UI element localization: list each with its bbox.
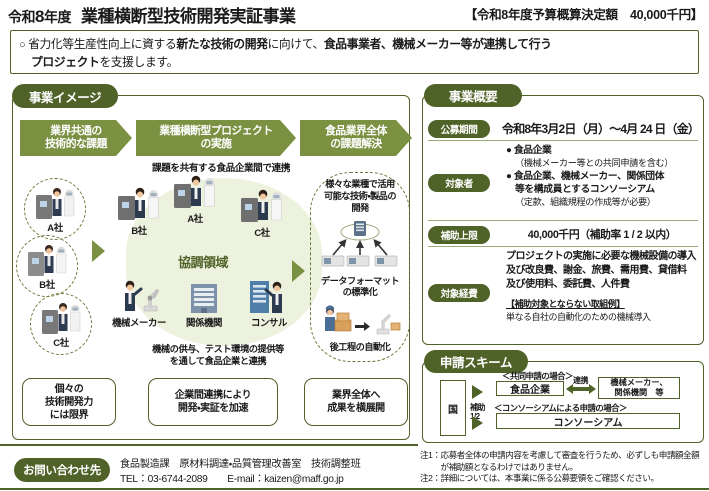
actor-name: B社 (131, 223, 146, 237)
summary-text-2: 新たな技術の開発 (176, 37, 267, 51)
actor-name: 機械メーカー (112, 315, 166, 329)
scheme-food-company-label: 食品企業 (510, 381, 550, 396)
business-image-panel: 事業イメージ 業界共通の 技術的な課題 業種横断型プロジェクト の実施 食品業界… (8, 82, 412, 442)
collab-actor-consultant: コンサル (240, 276, 298, 329)
scheme-partner-label: 機械メーカー、 関係機関 等 (610, 378, 667, 398)
eligible-item-main: 食品企業 (514, 145, 552, 156)
actor-name: A社 (187, 211, 202, 225)
chevron-step-3: 食品業界全体 の課題解決 (300, 120, 412, 156)
summary-box: ○ 省力化等生産性向上に資する新たな技術の開発に向けて、食品事業者、機械メーカー… (10, 30, 699, 74)
eligible-item: ● 食品企業、機械メーカー、関係団体 等を構成員とするコンソーシアム (506, 170, 702, 196)
footnote-2-text: 詳細については、本事業に係る公募要領をご確認ください。 (440, 473, 658, 485)
contact-pill: お問い合わせ先 (14, 458, 110, 482)
fiscal-year-label: 令和8年度 (0, 7, 71, 27)
era-number: 8 (35, 7, 44, 26)
caption-box-3: 業界全体へ 成果を横展開 (304, 378, 408, 426)
outcome-sub-1: データフォーマット の標準化 (321, 276, 399, 299)
collab-actor-a: A社 (168, 174, 222, 225)
eligible-expenses-tag: 対象経費 (428, 284, 490, 302)
factory-worker-icon (117, 186, 161, 222)
flow-arrow-to-outcome-icon (292, 260, 305, 282)
eligible-expenses-body: プロジェクトの実施に必要な機械設備の導入 及び改良費、謝金、旅費、需用費、貸借料… (506, 250, 702, 323)
footnote-1-text: 応募者全体の申請内容を考慮して審査を行うため、必ずしも申請額全額 が補助額となる… (440, 450, 699, 473)
isolated-company-b: B社 (16, 235, 78, 297)
summary-text-4: 食品事業者、機械メーカー等が連携して行う (324, 37, 552, 51)
data-standardization-icon (317, 217, 403, 275)
post-process-automation-icon (317, 303, 403, 341)
footnote-2: 注2： 詳細については、本事業に係る公募要領をご確認ください。 (420, 473, 706, 485)
supply-note: 機械の供与、テスト環境の提供等 を通して食品企業と連携 (118, 344, 318, 368)
isolated-company-a: A社 (24, 178, 86, 240)
contact-tel-email: TEL：03-6744-2089 E-mail：kaizen@maff.go.j… (120, 472, 360, 487)
subsidy-cap-value: 40,000千円（補助率 1 / 2 以内） (502, 226, 702, 242)
era-prefix: 令和 (8, 9, 35, 25)
collab-actor-c: C社 (234, 188, 290, 239)
collab-actor-b: B社 (112, 186, 166, 237)
caption-box-2-label: 企業間連携により 開発・実証を加速 (175, 389, 252, 415)
business-overview-panel: 事業概要 公募期間 令和8年3月2日（月）～4月 24 日（金） 対象者 ● 食… (418, 82, 706, 442)
business-overview-pill: 事業概要 (424, 84, 522, 107)
factory-worker-icon (240, 188, 284, 224)
chevron-step-2-label: 業種横断型プロジェクト の実施 (159, 125, 272, 152)
outcome-sub-2: 後工程の自動化 (330, 342, 391, 354)
caption-box-1: 個々の 技術開発力 には限界 (22, 378, 116, 426)
factory-worker-icon (41, 301, 81, 335)
budget-amount: 【令和8年度予算概算決定額 40,000千円】 (465, 4, 703, 23)
chevron-step-1-label: 業界共通の 技術的な課題 (45, 125, 107, 152)
consultant-icon (248, 276, 290, 314)
summary-text-1: 省力化等生産性向上に資する (28, 37, 176, 51)
footer-divider (0, 444, 418, 446)
bullet-icon: ○ (19, 39, 25, 51)
collab-actor-institution: 関係機関 (174, 280, 234, 329)
factory-worker-icon (173, 174, 217, 210)
application-period-tag: 公募期間 (428, 120, 490, 138)
scheme-bidirectional-arrow-icon (566, 383, 596, 395)
isolated-company-c: C社 (30, 293, 92, 355)
factory-worker-icon (27, 243, 67, 277)
footnotes: 注1： 応募者全体の申請内容を考慮して審査を行うため、必ずしも申請額全額 が補助… (420, 450, 706, 485)
summary-text-5: プロジェクト (31, 55, 99, 69)
eligible-applicants-list: ● 食品企業 （機械メーカー等との共同申請を含む） ● 食品企業、機械メーカー、… (506, 144, 702, 209)
chevron-step-3-label: 食品業界全体 の課題解決 (325, 125, 387, 152)
robot-arm-icon (117, 278, 161, 314)
summary-text-3: に向けて、 (268, 37, 324, 51)
scheme-arrow-1-icon (472, 385, 483, 399)
eligible-item-sub: （機械メーカー等との共同申請を含む） (506, 157, 702, 169)
page-title: 業種横断型技術開発実証事業 (81, 2, 296, 27)
chevron-step-2: 業種横断型プロジェクト の実施 (136, 120, 296, 156)
contact-office: 食品製造課 原材料調達・品質管理改善室 技術調整班 (120, 457, 360, 472)
divider-2 (428, 220, 698, 221)
footnote-1: 注1： 応募者全体の申請内容を考慮して審査を行うため、必ずしも申請額全額 が補助… (420, 450, 706, 473)
poster-page: 令和8年度 業種横断型技術開発実証事業 【令和8年度予算概算決定額 40,000… (0, 0, 709, 491)
outcome-box: 様々な業種で活用 可能な技術・製品の 開発 (310, 172, 410, 362)
scheme-arrow-2-icon (472, 416, 483, 430)
eligible-applicants-tag: 対象者 (428, 174, 490, 192)
scheme-consortium-label: コンソーシアム (553, 414, 622, 429)
eligible-expenses-text: プロジェクトの実施に必要な機械設備の導入 及び改良費、謝金、旅費、需用費、貸借料… (506, 250, 702, 292)
eligible-item: ● 食品企業 (506, 144, 702, 157)
actor-name: コンサル (251, 315, 287, 329)
caption-box-2: 企業間連携により 開発・実証を加速 (148, 378, 278, 426)
non-eligible-note-body: 単なる自社の自動化のための機械導入 (506, 311, 702, 324)
building-icon (184, 280, 224, 314)
footnote-2-label: 注2： (420, 473, 440, 485)
application-period-value: 令和8年3月2日（月）～4月 24 日（金） (502, 120, 702, 137)
non-eligible-note-title: 【補助対象とならない取組例】 (506, 298, 702, 311)
summary-text-6: を支援します。 (99, 55, 178, 69)
scheme-kuni-label: 国 (448, 401, 458, 416)
scheme-partner-box: 機械メーカー、 関係機関 等 (598, 377, 680, 399)
mid-caption: 課題を共有する食品企業間で連携 (136, 160, 306, 174)
caption-box-1-label: 個々の 技術開発力 には限界 (45, 383, 93, 422)
footnote-1-label: 注1： (420, 450, 440, 473)
business-image-pill: 事業イメージ (12, 84, 118, 108)
flow-arrow-into-collab-icon (92, 240, 105, 262)
eligible-item-sub: （定款、組織規程の作成等が必要） (506, 196, 702, 208)
scheme-food-company-box: 食品企業 (496, 381, 564, 396)
contact-details: 食品製造課 原材料調達・品質管理改善室 技術調整班 TEL：03-6744-20… (120, 457, 360, 488)
company-name: B社 (39, 277, 55, 291)
divider-3 (428, 246, 698, 247)
collaboration-label: 協調領域 (148, 252, 258, 271)
outcome-title: 様々な業種で活用 可能な技術・製品の 開発 (324, 179, 396, 215)
scheme-kuni-box: 国 (440, 380, 466, 436)
factory-worker-icon (35, 186, 75, 220)
company-name: A社 (47, 220, 63, 234)
caption-box-3-label: 業界全体へ 成果を横展開 (327, 389, 385, 415)
subsidy-cap-tag: 補助上限 (428, 226, 490, 244)
eligible-item-main: 食品企業、機械メーカー、関係団体 等を構成員とするコンソーシアム (514, 171, 664, 195)
actor-name: 関係機関 (186, 315, 222, 329)
era-suffix: 年度 (44, 9, 71, 25)
actor-name: C社 (254, 225, 269, 239)
collab-actor-machine-maker: 機械メーカー (106, 278, 172, 329)
scheme-consortium-box: コンソーシアム (496, 413, 680, 429)
chevron-step-1: 業界共通の 技術的な課題 (20, 120, 132, 156)
bottom-border (0, 488, 709, 490)
divider-1 (428, 140, 698, 141)
company-name: C社 (53, 335, 69, 349)
